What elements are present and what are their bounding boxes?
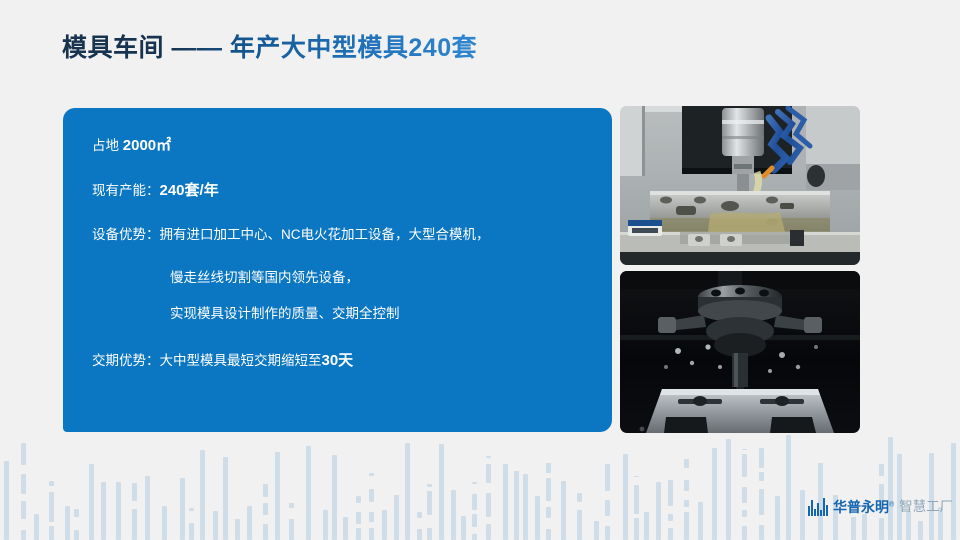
decor-bar bbox=[49, 481, 54, 540]
registered-mark: ® bbox=[889, 501, 894, 508]
decor-bar bbox=[775, 496, 780, 540]
decor-bar bbox=[800, 490, 805, 540]
brand-logo: 华普永明® 智慧工厂 bbox=[808, 496, 953, 518]
decor-bar bbox=[623, 454, 628, 540]
panel-line-capacity: 现有产能：240套/年 bbox=[92, 183, 219, 198]
panel-line-lead-time-prefix: 交期优势：大中型模具最短交期缩短至 bbox=[92, 353, 322, 368]
decor-bar bbox=[712, 448, 717, 540]
decor-bar bbox=[132, 483, 137, 540]
decor-bar bbox=[343, 517, 348, 540]
panel-line-equipment-text: 设备优势：拥有进口加工中心、NC电火花加工设备，大型合模机， bbox=[92, 227, 490, 242]
decor-bar bbox=[535, 496, 540, 540]
decor-bar bbox=[89, 464, 94, 540]
decor-bar bbox=[451, 490, 456, 540]
decor-bar bbox=[523, 474, 528, 540]
panel-line-equipment-3-text: 实现模具设计制作的质量、交期全控制 bbox=[170, 306, 400, 321]
decor-bar bbox=[306, 446, 311, 540]
panel-line-lead-time-emphasis: 30天 bbox=[322, 352, 354, 369]
decor-bar bbox=[698, 502, 703, 540]
panel-line-equipment-2: 慢走丝线切割等国内领先设备， bbox=[170, 271, 359, 285]
decor-bar bbox=[851, 517, 856, 540]
panel-line-area: 占地 2000㎡ bbox=[92, 138, 171, 153]
panel-line-capacity-prefix: 现有产能： bbox=[92, 183, 160, 198]
decor-bar bbox=[439, 444, 444, 540]
decor-bar bbox=[726, 439, 731, 540]
decor-bar bbox=[289, 503, 294, 540]
decor-bar bbox=[594, 521, 599, 540]
decor-bar bbox=[503, 464, 508, 540]
decor-bar bbox=[634, 476, 639, 540]
brand-name-text: 华普永明 bbox=[833, 499, 889, 515]
photo-machining-spindle-image bbox=[620, 271, 860, 433]
decor-bar bbox=[235, 511, 240, 540]
panel-line-equipment-2-text: 慢走丝线切割等国内领先设备， bbox=[170, 270, 359, 285]
decor-bar bbox=[417, 509, 422, 540]
decor-bar bbox=[546, 463, 551, 540]
panel-line-capacity-emphasis: 240套/年 bbox=[160, 182, 219, 199]
decor-bar bbox=[4, 461, 9, 540]
panel-line-equipment: 设备优势：拥有进口加工中心、NC电火花加工设备，大型合模机， bbox=[92, 228, 490, 242]
photo-cnc-milling-machine bbox=[620, 106, 860, 265]
decor-bar bbox=[427, 484, 432, 540]
decor-bar bbox=[918, 519, 923, 540]
decor-bar bbox=[34, 514, 39, 540]
decor-bar bbox=[275, 452, 280, 540]
decor-bar bbox=[162, 506, 167, 540]
panel-line-area-emphasis: 2000 bbox=[123, 137, 156, 154]
slide-root: 模具车间 —— 年产大中型模具240套 占地 2000㎡ 现有产能：240套/年… bbox=[0, 0, 960, 540]
decor-bar bbox=[951, 443, 956, 540]
decor-bar bbox=[461, 516, 466, 540]
decor-bar bbox=[605, 458, 610, 540]
decor-bar bbox=[223, 457, 228, 540]
decor-bar bbox=[888, 437, 893, 540]
decor-bar bbox=[684, 452, 689, 540]
decor-bar bbox=[247, 506, 252, 540]
decor-bar bbox=[189, 508, 194, 540]
decor-bar bbox=[101, 482, 106, 540]
decor-bar bbox=[644, 512, 649, 540]
decor-bar bbox=[668, 480, 673, 540]
decor-bar bbox=[514, 471, 519, 540]
decor-bar bbox=[394, 495, 399, 540]
bars-logo-icon bbox=[808, 498, 828, 516]
page-title-text: 模具车间 —— 年产大中型模具240套 bbox=[62, 28, 477, 64]
decor-bar bbox=[472, 482, 477, 540]
decor-bar bbox=[74, 509, 79, 540]
decor-bar bbox=[382, 510, 387, 540]
decor-bar bbox=[577, 493, 582, 540]
brand-tagline: 智慧工厂 bbox=[899, 500, 953, 514]
page-title: 模具车间 —— 年产大中型模具240套 bbox=[62, 28, 477, 64]
brand-name: 华普永明® bbox=[833, 500, 894, 514]
decor-bar bbox=[180, 478, 185, 540]
decor-bar bbox=[742, 449, 747, 540]
decor-bar bbox=[332, 455, 337, 540]
panel-line-area-prefix: 占地 bbox=[92, 138, 123, 153]
decor-bar bbox=[486, 456, 491, 540]
photo-cnc-milling-machine-image bbox=[620, 106, 860, 265]
decorative-bar-pattern bbox=[0, 430, 960, 540]
decor-bar bbox=[65, 506, 70, 540]
decor-bar bbox=[145, 476, 150, 540]
decor-bar bbox=[200, 450, 205, 540]
decor-bar bbox=[21, 443, 26, 540]
decor-bar bbox=[116, 482, 121, 540]
decor-bar bbox=[759, 448, 764, 540]
panel-line-lead-time: 交期优势：大中型模具最短交期缩短至30天 bbox=[92, 353, 353, 368]
decor-bar bbox=[786, 435, 791, 540]
decor-bar bbox=[369, 473, 374, 540]
decor-bar bbox=[405, 443, 410, 540]
panel-line-equipment-3: 实现模具设计制作的质量、交期全控制 bbox=[170, 307, 400, 321]
decor-bar bbox=[561, 481, 566, 540]
photo-machining-spindle bbox=[620, 271, 860, 433]
decor-bar bbox=[323, 510, 328, 540]
decor-bar bbox=[213, 511, 218, 540]
decor-bar bbox=[263, 484, 268, 540]
decor-bar bbox=[356, 487, 361, 540]
panel-line-area-suffix: ㎡ bbox=[156, 137, 171, 154]
decor-bar bbox=[656, 482, 661, 540]
